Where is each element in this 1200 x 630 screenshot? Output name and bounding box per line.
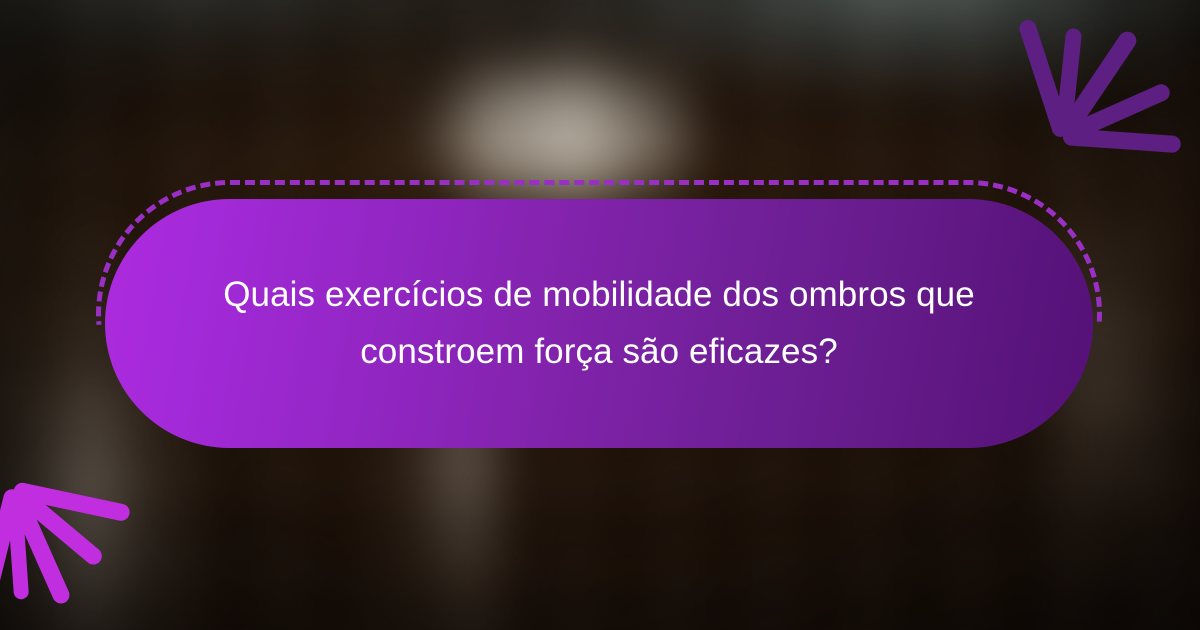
- social-card-canvas: Quais exercícios de mobilidade dos ombro…: [0, 0, 1200, 630]
- question-card: Quais exercícios de mobilidade dos ombro…: [105, 199, 1093, 448]
- question-text: Quais exercícios de mobilidade dos ombro…: [201, 267, 997, 380]
